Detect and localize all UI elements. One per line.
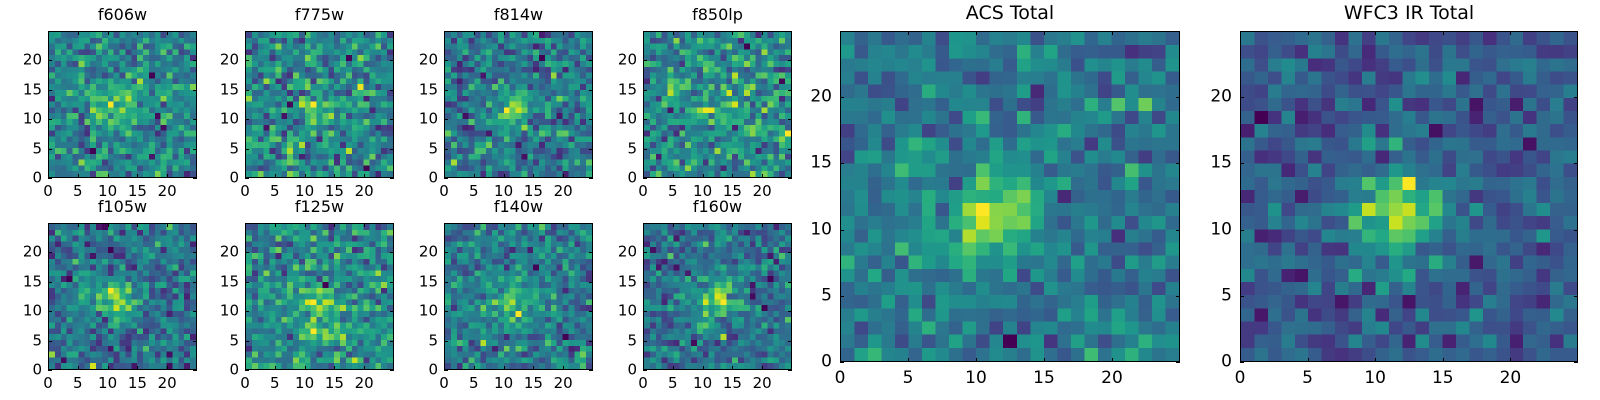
x-tick-mark-top bbox=[732, 223, 733, 227]
y-tick-mark bbox=[643, 311, 647, 312]
x-tick-label: 0 bbox=[43, 184, 53, 199]
y-tick-mark bbox=[245, 282, 249, 283]
y-tick-mark bbox=[245, 60, 249, 61]
x-tick-label: 20 bbox=[158, 376, 177, 391]
y-tick-mark bbox=[48, 149, 52, 150]
x-tick-label: 0 bbox=[439, 376, 449, 391]
y-tick-mark-right bbox=[390, 341, 394, 342]
x-tick-mark bbox=[1044, 358, 1045, 362]
panel-f814w: f814w0510152005101520 bbox=[444, 31, 593, 178]
panel-title-f775w: f775w bbox=[245, 7, 394, 23]
x-tick-mark-top bbox=[364, 31, 365, 35]
y-tick-mark bbox=[1240, 230, 1244, 231]
x-tick-label: 10 bbox=[965, 370, 987, 387]
x-tick-mark bbox=[563, 366, 564, 370]
x-tick-mark bbox=[504, 366, 505, 370]
x-tick-label: 15 bbox=[128, 376, 147, 391]
x-tick-label: 5 bbox=[668, 184, 678, 199]
y-tick-mark bbox=[643, 90, 647, 91]
x-tick-mark-top bbox=[474, 31, 475, 35]
x-tick-mark bbox=[108, 174, 109, 178]
y-tick-mark-right bbox=[589, 119, 593, 120]
panel-f160w: f160w0510152005101520 bbox=[643, 223, 792, 370]
y-tick-label: 10 bbox=[1210, 221, 1232, 238]
y-tick-mark-right bbox=[788, 341, 792, 342]
y-tick-label: 10 bbox=[220, 304, 239, 319]
x-tick-label: 20 bbox=[753, 184, 772, 199]
x-tick-label: 10 bbox=[494, 376, 513, 391]
x-tick-mark-top bbox=[137, 223, 138, 227]
y-tick-mark-right bbox=[1176, 163, 1180, 164]
y-tick-label: 15 bbox=[220, 82, 239, 97]
heatmap-f105w bbox=[48, 223, 197, 370]
y-tick-label: 0 bbox=[821, 354, 832, 371]
x-tick-mark bbox=[167, 174, 168, 178]
y-tick-mark-right bbox=[788, 60, 792, 61]
x-tick-mark-top bbox=[167, 223, 168, 227]
y-tick-mark bbox=[643, 119, 647, 120]
x-tick-mark-top bbox=[762, 31, 763, 35]
y-tick-label: 5 bbox=[627, 333, 637, 348]
x-tick-mark-top bbox=[976, 31, 977, 35]
x-tick-mark bbox=[1375, 358, 1376, 362]
x-tick-mark bbox=[78, 174, 79, 178]
x-tick-label: 15 bbox=[325, 376, 344, 391]
x-tick-mark-top bbox=[78, 31, 79, 35]
x-tick-mark-top bbox=[732, 31, 733, 35]
panel-title-acs-total: ACS Total bbox=[840, 4, 1180, 23]
panel-title-f160w: f160w bbox=[643, 199, 792, 215]
x-tick-label: 20 bbox=[158, 184, 177, 199]
y-tick-mark bbox=[48, 311, 52, 312]
y-tick-mark bbox=[245, 149, 249, 150]
x-tick-mark bbox=[673, 366, 674, 370]
y-tick-mark-right bbox=[788, 311, 792, 312]
y-tick-mark-right bbox=[589, 341, 593, 342]
y-tick-mark bbox=[444, 311, 448, 312]
y-tick-mark-right bbox=[193, 311, 197, 312]
x-tick-mark bbox=[474, 366, 475, 370]
y-tick-mark-right bbox=[788, 90, 792, 91]
y-tick-label: 5 bbox=[229, 141, 239, 156]
y-tick-mark-right bbox=[788, 282, 792, 283]
y-tick-mark-right bbox=[193, 90, 197, 91]
x-tick-mark bbox=[908, 358, 909, 362]
x-tick-mark bbox=[673, 174, 674, 178]
x-tick-mark bbox=[732, 174, 733, 178]
x-tick-mark bbox=[1308, 358, 1309, 362]
y-tick-label: 10 bbox=[618, 304, 637, 319]
panel-f140w: f140w0510152005101520 bbox=[444, 223, 593, 370]
x-tick-mark-top bbox=[1308, 31, 1309, 35]
figure-canvas: f606w0510152005101520f775w05101520051015… bbox=[0, 0, 1600, 400]
x-tick-mark-top bbox=[474, 223, 475, 227]
x-tick-label: 20 bbox=[554, 184, 573, 199]
heatmap-f814w bbox=[444, 31, 593, 178]
panel-title-f814w: f814w bbox=[444, 7, 593, 23]
y-tick-mark bbox=[444, 60, 448, 61]
x-tick-mark-top bbox=[275, 223, 276, 227]
y-tick-label: 0 bbox=[229, 171, 239, 186]
x-tick-mark-top bbox=[48, 223, 49, 227]
y-tick-mark bbox=[840, 97, 844, 98]
x-tick-label: 20 bbox=[355, 376, 374, 391]
x-tick-mark-top bbox=[643, 223, 644, 227]
x-tick-label: 0 bbox=[638, 184, 648, 199]
y-tick-mark bbox=[245, 311, 249, 312]
y-tick-mark bbox=[444, 178, 448, 179]
y-tick-mark bbox=[1240, 362, 1244, 363]
y-tick-mark-right bbox=[390, 149, 394, 150]
x-tick-label: 0 bbox=[240, 376, 250, 391]
y-tick-label: 15 bbox=[419, 82, 438, 97]
y-tick-label: 20 bbox=[419, 245, 438, 260]
heatmap-f775w bbox=[245, 31, 394, 178]
x-tick-mark bbox=[1112, 358, 1113, 362]
y-tick-mark bbox=[643, 60, 647, 61]
y-tick-mark-right bbox=[589, 60, 593, 61]
y-tick-label: 20 bbox=[1210, 89, 1232, 106]
y-tick-label: 10 bbox=[419, 112, 438, 127]
y-tick-label: 5 bbox=[821, 287, 832, 304]
y-tick-label: 20 bbox=[220, 53, 239, 68]
x-tick-label: 5 bbox=[903, 370, 914, 387]
y-tick-mark bbox=[1240, 97, 1244, 98]
x-tick-mark-top bbox=[245, 223, 246, 227]
y-tick-mark-right bbox=[788, 119, 792, 120]
x-tick-mark bbox=[364, 174, 365, 178]
x-tick-mark bbox=[167, 366, 168, 370]
x-tick-mark-top bbox=[703, 223, 704, 227]
panel-f850lp: f850lp0510152005101520 bbox=[643, 31, 792, 178]
x-tick-mark-top bbox=[78, 223, 79, 227]
x-tick-mark-top bbox=[305, 223, 306, 227]
x-tick-label: 5 bbox=[270, 184, 280, 199]
x-tick-mark-top bbox=[108, 223, 109, 227]
x-tick-mark-top bbox=[444, 31, 445, 35]
x-tick-mark-top bbox=[563, 31, 564, 35]
y-tick-mark bbox=[643, 252, 647, 253]
y-tick-mark bbox=[840, 362, 844, 363]
y-tick-mark bbox=[48, 60, 52, 61]
x-tick-mark-top bbox=[762, 223, 763, 227]
y-tick-mark bbox=[245, 90, 249, 91]
y-tick-mark bbox=[840, 230, 844, 231]
x-tick-label: 0 bbox=[240, 184, 250, 199]
y-tick-label: 10 bbox=[220, 112, 239, 127]
x-tick-mark-top bbox=[48, 31, 49, 35]
y-tick-mark-right bbox=[1574, 97, 1578, 98]
y-tick-label: 5 bbox=[1221, 287, 1232, 304]
x-tick-mark-top bbox=[533, 223, 534, 227]
x-tick-mark-top bbox=[1443, 31, 1444, 35]
y-tick-label: 0 bbox=[627, 363, 637, 378]
y-tick-label: 5 bbox=[229, 333, 239, 348]
y-tick-mark-right bbox=[193, 60, 197, 61]
y-tick-mark bbox=[643, 178, 647, 179]
heatmap-f160w bbox=[643, 223, 792, 370]
y-tick-label: 20 bbox=[23, 53, 42, 68]
x-tick-mark-top bbox=[1044, 31, 1045, 35]
y-tick-label: 20 bbox=[618, 245, 637, 260]
y-tick-mark bbox=[643, 149, 647, 150]
y-tick-mark-right bbox=[1574, 230, 1578, 231]
panel-f775w: f775w0510152005101520 bbox=[245, 31, 394, 178]
x-tick-label: 0 bbox=[43, 376, 53, 391]
y-tick-mark-right bbox=[788, 370, 792, 371]
x-tick-mark bbox=[533, 174, 534, 178]
x-tick-label: 5 bbox=[270, 376, 280, 391]
y-tick-mark-right bbox=[390, 60, 394, 61]
y-tick-label: 0 bbox=[428, 363, 438, 378]
panel-title-f125w: f125w bbox=[245, 199, 394, 215]
y-tick-mark-right bbox=[390, 178, 394, 179]
y-tick-mark-right bbox=[1574, 362, 1578, 363]
y-tick-mark bbox=[444, 282, 448, 283]
x-tick-mark bbox=[305, 174, 306, 178]
x-tick-mark-top bbox=[245, 31, 246, 35]
y-tick-mark-right bbox=[193, 370, 197, 371]
heatmap-wfc3-ir-total bbox=[1240, 31, 1578, 362]
x-tick-mark-top bbox=[673, 223, 674, 227]
y-tick-mark bbox=[444, 341, 448, 342]
y-tick-mark bbox=[245, 178, 249, 179]
x-tick-mark bbox=[1443, 358, 1444, 362]
x-tick-mark bbox=[364, 366, 365, 370]
x-tick-mark bbox=[474, 174, 475, 178]
x-tick-mark-top bbox=[703, 31, 704, 35]
x-tick-mark bbox=[1510, 358, 1511, 362]
x-tick-label: 10 bbox=[1364, 370, 1386, 387]
x-tick-mark-top bbox=[1112, 31, 1113, 35]
y-tick-label: 10 bbox=[419, 304, 438, 319]
y-tick-mark-right bbox=[788, 252, 792, 253]
y-tick-mark-right bbox=[589, 90, 593, 91]
x-tick-mark bbox=[334, 366, 335, 370]
y-tick-mark bbox=[444, 149, 448, 150]
y-tick-mark-right bbox=[589, 149, 593, 150]
x-tick-mark bbox=[108, 366, 109, 370]
y-tick-mark bbox=[48, 341, 52, 342]
y-tick-mark bbox=[643, 341, 647, 342]
heatmap-f125w bbox=[245, 223, 394, 370]
y-tick-label: 0 bbox=[32, 363, 42, 378]
x-tick-mark bbox=[334, 174, 335, 178]
panel-title-f850lp: f850lp bbox=[643, 7, 792, 23]
panel-acs-total: ACS Total0510152005101520 bbox=[840, 31, 1180, 362]
y-tick-label: 20 bbox=[419, 53, 438, 68]
y-tick-label: 20 bbox=[810, 89, 832, 106]
y-tick-mark bbox=[1240, 163, 1244, 164]
panel-title-f606w: f606w bbox=[48, 7, 197, 23]
x-tick-label: 0 bbox=[439, 184, 449, 199]
x-tick-mark bbox=[762, 174, 763, 178]
x-tick-label: 10 bbox=[98, 376, 117, 391]
panel-title-f140w: f140w bbox=[444, 199, 593, 215]
y-tick-mark-right bbox=[788, 178, 792, 179]
y-tick-label: 5 bbox=[32, 141, 42, 156]
y-tick-mark bbox=[245, 370, 249, 371]
y-tick-label: 15 bbox=[1210, 155, 1232, 172]
y-tick-mark-right bbox=[193, 341, 197, 342]
x-tick-mark-top bbox=[364, 223, 365, 227]
x-tick-mark-top bbox=[275, 31, 276, 35]
y-tick-mark-right bbox=[390, 119, 394, 120]
y-tick-mark-right bbox=[589, 311, 593, 312]
y-tick-mark-right bbox=[589, 370, 593, 371]
y-tick-mark-right bbox=[1574, 163, 1578, 164]
x-tick-label: 5 bbox=[668, 376, 678, 391]
x-tick-label: 20 bbox=[1500, 370, 1522, 387]
x-tick-label: 0 bbox=[835, 370, 846, 387]
x-tick-label: 5 bbox=[73, 376, 83, 391]
x-tick-label: 20 bbox=[554, 376, 573, 391]
y-tick-label: 5 bbox=[627, 141, 637, 156]
x-tick-label: 15 bbox=[1432, 370, 1454, 387]
x-tick-label: 0 bbox=[638, 376, 648, 391]
heatmap-f850lp bbox=[643, 31, 792, 178]
x-tick-mark bbox=[305, 366, 306, 370]
y-tick-mark-right bbox=[1176, 97, 1180, 98]
y-tick-mark bbox=[444, 252, 448, 253]
x-tick-mark bbox=[732, 366, 733, 370]
y-tick-label: 15 bbox=[220, 274, 239, 289]
y-tick-mark bbox=[444, 370, 448, 371]
y-tick-mark-right bbox=[390, 90, 394, 91]
x-tick-mark-top bbox=[563, 223, 564, 227]
y-tick-mark bbox=[444, 119, 448, 120]
y-tick-label: 10 bbox=[23, 112, 42, 127]
x-tick-mark-top bbox=[305, 31, 306, 35]
y-tick-mark bbox=[48, 252, 52, 253]
x-tick-mark-top bbox=[533, 31, 534, 35]
x-tick-mark-top bbox=[908, 31, 909, 35]
x-tick-label: 15 bbox=[723, 376, 742, 391]
y-tick-label: 5 bbox=[428, 333, 438, 348]
y-tick-mark bbox=[643, 370, 647, 371]
y-tick-label: 15 bbox=[618, 82, 637, 97]
x-tick-label: 10 bbox=[295, 376, 314, 391]
x-tick-label: 15 bbox=[524, 376, 543, 391]
y-tick-mark bbox=[1240, 296, 1244, 297]
panel-f105w: f105w0510152005101520 bbox=[48, 223, 197, 370]
y-tick-mark bbox=[48, 90, 52, 91]
y-tick-label: 20 bbox=[618, 53, 637, 68]
y-tick-label: 15 bbox=[419, 274, 438, 289]
x-tick-mark-top bbox=[504, 223, 505, 227]
y-tick-mark-right bbox=[1176, 296, 1180, 297]
y-tick-mark bbox=[48, 282, 52, 283]
panel-title-f105w: f105w bbox=[48, 199, 197, 215]
y-tick-mark-right bbox=[788, 149, 792, 150]
x-tick-mark bbox=[976, 358, 977, 362]
y-tick-label: 10 bbox=[23, 304, 42, 319]
x-tick-mark bbox=[703, 366, 704, 370]
y-tick-mark-right bbox=[193, 119, 197, 120]
x-tick-mark-top bbox=[137, 31, 138, 35]
y-tick-mark-right bbox=[1574, 296, 1578, 297]
y-tick-label: 0 bbox=[1221, 354, 1232, 371]
x-tick-mark bbox=[275, 174, 276, 178]
y-tick-mark-right bbox=[390, 252, 394, 253]
y-tick-label: 20 bbox=[23, 245, 42, 260]
y-tick-label: 5 bbox=[428, 141, 438, 156]
x-tick-mark bbox=[762, 366, 763, 370]
x-tick-mark bbox=[563, 174, 564, 178]
heatmap-f140w bbox=[444, 223, 593, 370]
x-tick-label: 20 bbox=[753, 376, 772, 391]
x-tick-mark-top bbox=[167, 31, 168, 35]
x-tick-mark bbox=[78, 366, 79, 370]
y-tick-mark-right bbox=[390, 282, 394, 283]
x-tick-mark-top bbox=[1240, 31, 1241, 35]
x-tick-label: 20 bbox=[355, 184, 374, 199]
x-tick-mark bbox=[504, 174, 505, 178]
y-tick-mark bbox=[840, 296, 844, 297]
x-tick-label: 15 bbox=[1033, 370, 1055, 387]
y-tick-mark-right bbox=[390, 370, 394, 371]
y-tick-label: 15 bbox=[23, 82, 42, 97]
y-tick-mark-right bbox=[1176, 230, 1180, 231]
y-tick-mark bbox=[245, 252, 249, 253]
y-tick-mark-right bbox=[193, 252, 197, 253]
x-tick-mark bbox=[275, 366, 276, 370]
y-tick-label: 15 bbox=[810, 155, 832, 172]
panel-wfc3-ir-total: WFC3 IR Total0510152005101520 bbox=[1240, 31, 1578, 362]
x-tick-mark bbox=[533, 366, 534, 370]
y-tick-label: 15 bbox=[23, 274, 42, 289]
x-tick-label: 10 bbox=[693, 376, 712, 391]
y-tick-mark bbox=[48, 370, 52, 371]
x-tick-label: 5 bbox=[469, 184, 479, 199]
x-tick-mark-top bbox=[504, 31, 505, 35]
y-tick-mark bbox=[245, 119, 249, 120]
panel-f125w: f125w0510152005101520 bbox=[245, 223, 394, 370]
y-tick-label: 10 bbox=[810, 221, 832, 238]
x-tick-mark-top bbox=[643, 31, 644, 35]
x-tick-label: 0 bbox=[1235, 370, 1246, 387]
x-tick-mark-top bbox=[334, 223, 335, 227]
y-tick-label: 0 bbox=[627, 171, 637, 186]
x-tick-mark-top bbox=[1375, 31, 1376, 35]
y-tick-label: 10 bbox=[618, 112, 637, 127]
y-tick-mark bbox=[840, 163, 844, 164]
y-tick-mark-right bbox=[589, 252, 593, 253]
x-tick-mark bbox=[703, 174, 704, 178]
x-tick-mark-top bbox=[1510, 31, 1511, 35]
x-tick-mark-top bbox=[444, 223, 445, 227]
y-tick-mark bbox=[444, 90, 448, 91]
y-tick-label: 0 bbox=[229, 363, 239, 378]
panel-f606w: f606w0510152005101520 bbox=[48, 31, 197, 178]
x-tick-label: 20 bbox=[1101, 370, 1123, 387]
y-tick-label: 0 bbox=[428, 171, 438, 186]
x-tick-label: 5 bbox=[469, 376, 479, 391]
y-tick-mark-right bbox=[193, 282, 197, 283]
y-tick-label: 0 bbox=[32, 171, 42, 186]
y-tick-label: 15 bbox=[618, 274, 637, 289]
y-tick-mark-right bbox=[390, 311, 394, 312]
x-tick-label: 5 bbox=[1302, 370, 1313, 387]
y-tick-mark-right bbox=[1176, 362, 1180, 363]
y-tick-mark-right bbox=[589, 178, 593, 179]
y-tick-mark-right bbox=[193, 178, 197, 179]
x-tick-mark bbox=[137, 366, 138, 370]
x-tick-label: 5 bbox=[73, 184, 83, 199]
y-tick-mark-right bbox=[193, 149, 197, 150]
y-tick-mark bbox=[48, 178, 52, 179]
y-tick-label: 20 bbox=[220, 245, 239, 260]
